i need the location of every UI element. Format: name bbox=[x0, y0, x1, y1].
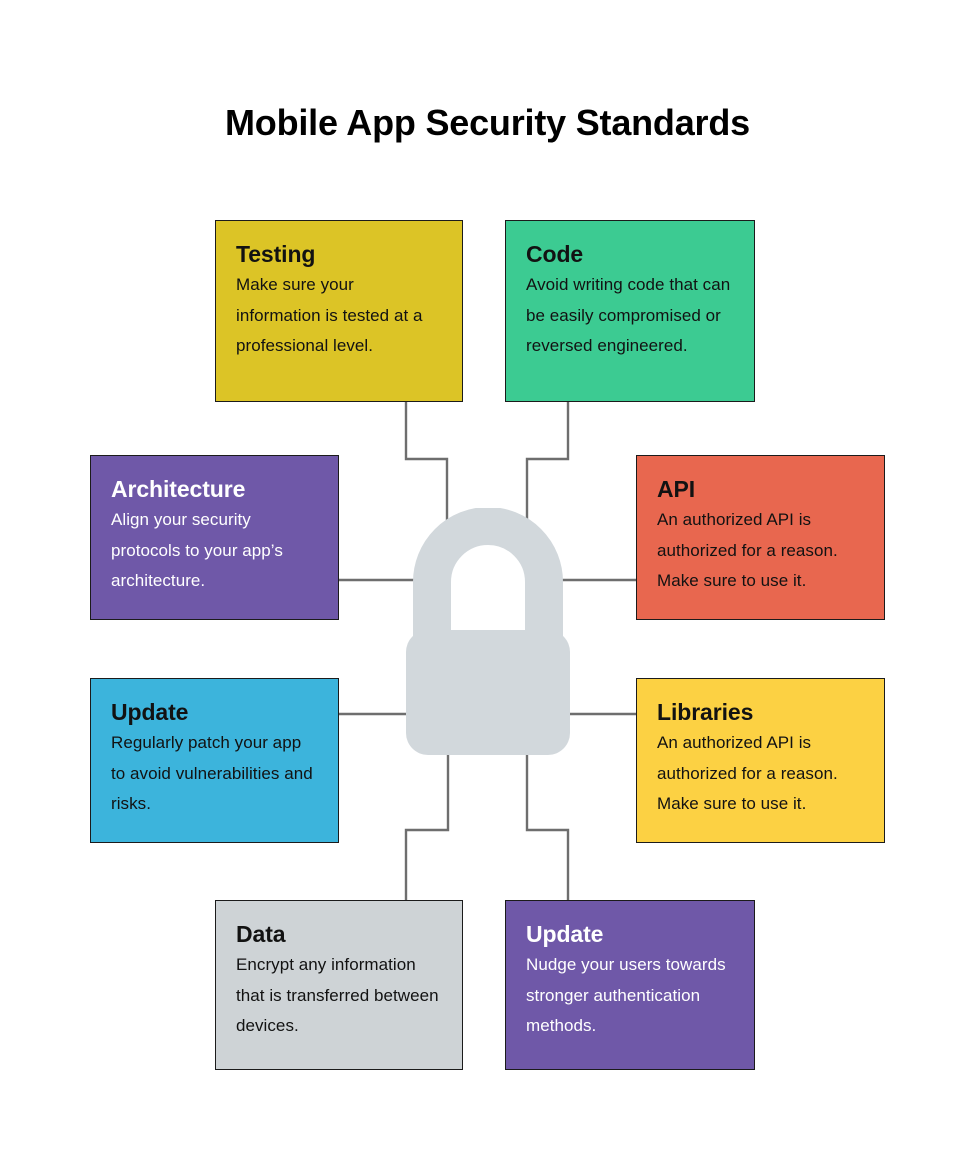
card-title: Architecture bbox=[111, 474, 318, 504]
connector-update-bottom bbox=[527, 752, 568, 900]
card-title: Update bbox=[111, 697, 318, 727]
infographic-canvas: Mobile App Security Standards bbox=[0, 0, 975, 1155]
card-title: Testing bbox=[236, 239, 442, 269]
card-testing[interactable]: Testing Make sure your information is te… bbox=[215, 220, 463, 402]
card-code[interactable]: Code Avoid writing code that can be easi… bbox=[505, 220, 755, 402]
card-body: Regularly patch your app to avoid vulner… bbox=[111, 728, 318, 820]
card-body: Encrypt any information that is transfer… bbox=[236, 950, 442, 1042]
card-api[interactable]: API An authorized API is authorized for … bbox=[636, 455, 885, 620]
card-architecture[interactable]: Architecture Align your security protoco… bbox=[90, 455, 339, 620]
card-body: Make sure your information is tested at … bbox=[236, 270, 442, 362]
card-title: Code bbox=[526, 239, 734, 269]
card-libraries[interactable]: Libraries An authorized API is authorize… bbox=[636, 678, 885, 843]
card-body: An authorized API is authorized for a re… bbox=[657, 505, 864, 597]
card-body: Avoid writing code that can be easily co… bbox=[526, 270, 734, 362]
card-update-bottom[interactable]: Update Nudge your users towards stronger… bbox=[505, 900, 755, 1070]
card-body: Align your security protocols to your ap… bbox=[111, 505, 318, 597]
card-update-left[interactable]: Update Regularly patch your app to avoid… bbox=[90, 678, 339, 843]
card-title: Libraries bbox=[657, 697, 864, 727]
card-title: API bbox=[657, 474, 864, 504]
card-body: Nudge your users towards stronger authen… bbox=[526, 950, 734, 1042]
card-body: An authorized API is authorized for a re… bbox=[657, 728, 864, 820]
connector-data bbox=[406, 752, 448, 900]
padlock-icon bbox=[396, 508, 580, 760]
card-title: Update bbox=[526, 919, 734, 949]
card-title: Data bbox=[236, 919, 442, 949]
card-data[interactable]: Data Encrypt any information that is tra… bbox=[215, 900, 463, 1070]
